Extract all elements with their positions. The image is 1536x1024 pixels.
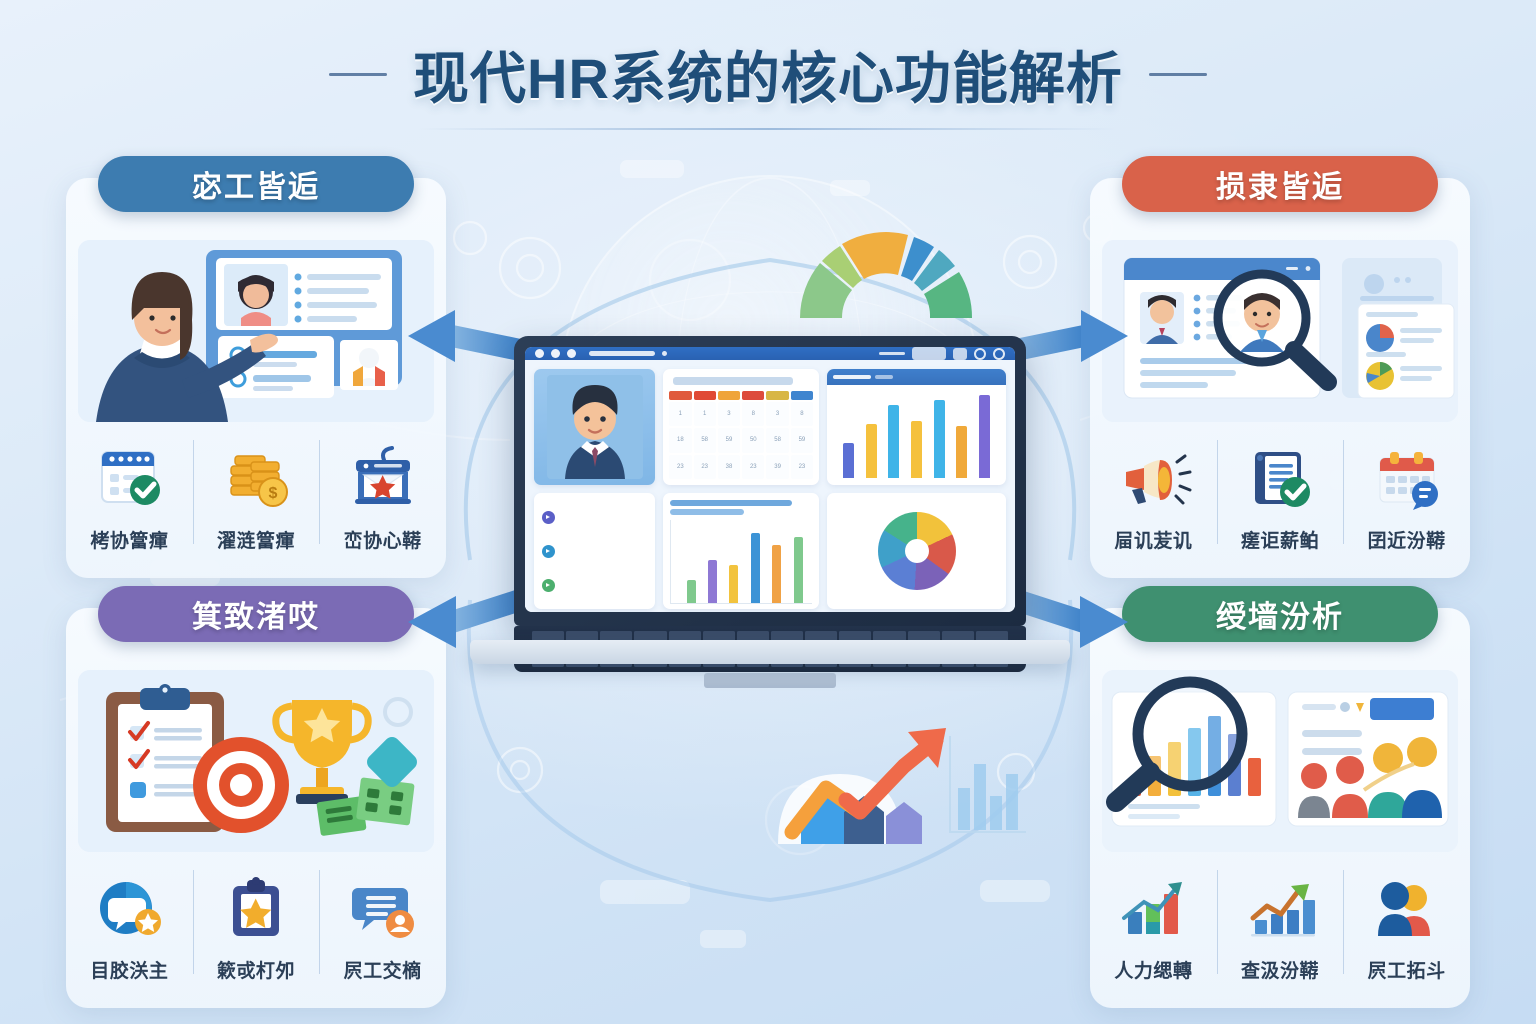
megaphone-icon [1114,442,1192,514]
toolbar-dot-icon [662,351,667,356]
calendar-grid[interactable]: 113838185859505859232338233923 [669,391,813,479]
title-underline [418,128,1118,130]
calendar-day-cell[interactable]: 1 [669,402,691,426]
chart-bar [708,560,717,603]
employee-avatar [547,375,643,479]
chart-bar [934,400,945,478]
calendar-day-cell[interactable]: 3 [718,402,740,426]
calendar-day-cell[interactable]: 8 [742,402,764,426]
calendar-chat-icon [1368,442,1446,514]
calendar-check-icon [90,442,168,514]
growth-arrow-graphic [768,726,1030,846]
dashboard-secondary-bar-chart-panel[interactable] [663,493,819,609]
feature-item-chat-person[interactable]: 屄工交樀 [319,858,446,1008]
calendar-day-cell[interactable]: 58 [766,428,788,452]
quadrant-badge-data-analysis: 绶墙汾析 [1122,586,1438,642]
chart-bar [751,533,760,603]
chat-person-icon [344,872,422,944]
quadrant-recruitment-management[interactable]: 损隶皆逅 [1090,178,1470,578]
dashboard-employee-avatar-panel[interactable] [534,369,655,485]
page-header: 现代HR系统的核心功能解析 [0,34,1536,115]
hr-dashboard: 113838185859505859232338233923 [525,360,1015,612]
calendar-day-cell[interactable]: 23 [742,455,764,479]
feature-item-clipboard-star[interactable]: 簌戓朾夘 [193,858,320,1008]
feature-item-trend-bar-chart[interactable]: 查汲汾鞯 [1217,858,1344,1008]
feature-label: 屄工拓斗 [1368,956,1446,983]
two-people-icon [1368,872,1446,944]
laptop-trackpad[interactable] [704,673,836,688]
svg-text:$: $ [269,485,278,502]
calendar-day-cell[interactable]: 18 [669,428,691,452]
calendar-day-cell[interactable]: 39 [766,455,788,479]
calendar-header-cell [742,391,764,400]
title-rule-left [329,73,387,76]
chart-bar [866,424,877,478]
chat-star-icon [90,872,168,944]
chart-bar [843,443,854,478]
calendar-day-cell[interactable]: 50 [742,428,764,452]
toolbar-line-icon [879,352,905,355]
calendar-header-cell [766,391,788,400]
title-rule-right [1149,73,1207,76]
play-circle-icon [542,511,555,524]
pie-chart [878,512,956,590]
chart-bar [979,395,990,478]
feature-label: 濯涟簹瘒 [217,526,295,553]
feature-item-calendar-check[interactable]: 栲协簹瘒 [66,428,193,578]
calendar-day-cell[interactable]: 23 [791,455,813,479]
calendar-title-placeholder [673,377,793,385]
chart-bar [772,545,781,603]
bar-chart-bars [827,385,1006,485]
window-dot-minimize[interactable] [551,349,560,358]
quadrant-employee-management[interactable]: 宓工皆逅 [66,178,446,578]
calendar-header-cell [694,391,716,400]
dashboard-pie-chart-panel[interactable] [827,493,1006,609]
list-item[interactable] [542,511,647,524]
growth-arrow-chart-icon [1114,872,1192,944]
toolbar-clock-icon[interactable] [974,348,986,360]
feature-label: 峦协心鞯 [344,526,422,553]
quadrant-badge-employee-management: 宓工皆逅 [98,156,414,212]
calendar-header-cell [791,391,813,400]
window-dot-maximize[interactable] [567,349,576,358]
secondary-chart-subtitle-placeholder [670,509,744,515]
list-item[interactable] [542,579,647,592]
window-dot-close[interactable] [535,349,544,358]
chart-bar [911,421,922,478]
award-envelope-icon [344,442,422,514]
performance-gauge [788,222,984,322]
chart-bar [687,580,696,603]
laptop-screen: 113838185859505859232338233923 [525,347,1015,612]
laptop-lid: 113838185859505859232338233923 [514,336,1026,626]
calendar-day-cell[interactable]: 23 [669,455,691,479]
illustration-magnified-bar-chart-and-workforce-card [1102,670,1458,852]
feature-item-coin-stack[interactable]: $ 濯涟簹瘒 [193,428,320,578]
quadrant-performance-management[interactable]: 箕致渚哎 [66,608,446,1008]
calendar-day-cell[interactable]: 58 [694,428,716,452]
icon-row-performance-management: 目胶浂主 簌戓朾夘 [66,858,446,1008]
feature-item-document-check[interactable]: 瘥讵薪鲌 [1217,428,1344,578]
document-check-icon [1241,442,1319,514]
laptop-device: 113838185859505859232338233923 [470,336,1070,716]
play-circle-icon [542,545,555,558]
toolbar-profile-icon[interactable] [993,348,1005,360]
laptop-base [470,640,1070,664]
browser-toolbar[interactable] [525,347,1015,360]
feature-item-calendar-chat[interactable]: 囝近汾鞯 [1343,428,1470,578]
calendar-day-cell[interactable]: 23 [694,455,716,479]
icon-row-data-analysis: 人力缌轉 查汲汾鞯 [1090,858,1470,1008]
dashboard-bar-chart-panel[interactable] [827,369,1006,485]
chart-bar [888,405,899,478]
quadrant-data-analysis[interactable]: 绶墙汾析 [1090,608,1470,1008]
feature-item-two-people[interactable]: 屄工拓斗 [1343,858,1470,1008]
calendar-day-cell[interactable]: 59 [791,428,813,452]
dashboard-task-list-panel[interactable] [534,493,655,609]
toolbar-search-field[interactable] [912,347,946,360]
feature-label: 瘥讵薪鲌 [1241,526,1319,553]
feature-label: 目胶浂主 [90,956,168,983]
chart-bar [956,426,967,478]
feature-item-growth-arrow-chart[interactable]: 人力缌轉 [1090,858,1217,1008]
bar-chart-header [827,369,1006,385]
feature-label: 囝近汾鞯 [1368,526,1446,553]
secondary-bar-chart-bars [670,520,812,604]
feature-label: 簌戓朾夘 [217,956,295,983]
toolbar-grid-icon[interactable] [953,348,967,360]
feature-label: 查汲汾鞯 [1241,956,1319,983]
feature-item-chat-star[interactable]: 目胶浂主 [66,858,193,1008]
clipboard-star-icon [217,872,295,944]
feature-label: 栲协簹瘒 [90,526,168,553]
calendar-day-cell[interactable]: 3 [766,402,788,426]
feature-label: 屇讥苃讥 [1114,526,1192,553]
illustration-hr-manager-with-employee-profiles [78,240,434,422]
chart-title-placeholder [833,375,871,379]
chart-subtitle-placeholder [875,375,893,379]
calendar-day-cell[interactable]: 59 [718,428,740,452]
calendar-header-cell [718,391,740,400]
page-title: 现代HR系统的核心功能解析 [413,34,1123,115]
list-item[interactable] [542,545,647,558]
quadrant-badge-recruitment-management: 损隶皆逅 [1122,156,1438,212]
calendar-day-cell[interactable]: 8 [791,402,813,426]
coin-stack-icon: $ [217,442,295,514]
dashboard-calendar-panel[interactable]: 113838185859505859232338233923 [663,369,819,485]
trend-bar-chart-icon [1241,872,1319,944]
illustration-candidate-search-with-magnifier [1102,240,1458,422]
feature-label: 屄工交樀 [344,956,422,983]
calendar-day-cell[interactable]: 1 [694,402,716,426]
feature-item-megaphone[interactable]: 屇讥苃讥 [1090,428,1217,578]
calendar-header-cell [669,391,691,400]
quadrant-badge-performance-management: 箕致渚哎 [98,586,414,642]
feature-item-award-envelope[interactable]: 峦协心鞯 [319,428,446,578]
address-bar[interactable] [589,351,655,356]
chart-bar [794,537,803,603]
secondary-chart-title-placeholder [670,500,792,506]
illustration-checklist-target-trophy-cash [78,670,434,852]
play-circle-icon [542,579,555,592]
calendar-day-cell[interactable]: 38 [718,455,740,479]
feature-label: 人力缌轉 [1114,956,1192,983]
icon-row-recruitment-management: 屇讥苃讥 瘥讵薪鲌 [1090,428,1470,578]
icon-row-employee-management: 栲协簹瘒 $ 濯涟簹瘒 [66,428,446,578]
chart-bar [729,565,738,603]
